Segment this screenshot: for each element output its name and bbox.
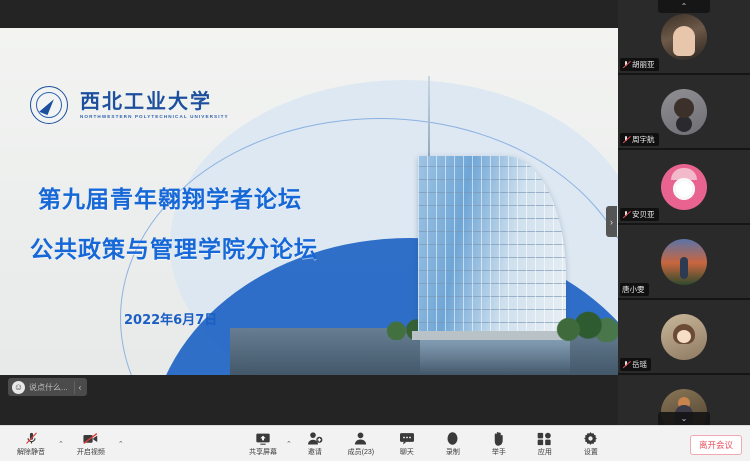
participant-name-tag: 胡丽亚 bbox=[620, 58, 659, 71]
participant-tile[interactable]: 周宇航 bbox=[618, 75, 750, 150]
building-spire bbox=[428, 76, 430, 162]
stage-letterbox-bottom bbox=[0, 375, 618, 425]
trees-right bbox=[556, 300, 618, 342]
university-name-en: NORTHWESTERN POLYTECHNICAL UNIVERSITY bbox=[80, 114, 229, 119]
microphone-muted-icon bbox=[622, 61, 630, 69]
mute-options-caret[interactable]: ⌃ bbox=[58, 440, 64, 448]
panel-collapse-handle[interactable]: › bbox=[606, 206, 617, 237]
participant-tile[interactable]: 唐小雯 bbox=[618, 225, 750, 300]
avatar bbox=[661, 89, 707, 135]
leave-meeting-button[interactable]: 离开会议 bbox=[690, 435, 742, 455]
toolbar-button-apps[interactable]: 应用 bbox=[522, 426, 568, 461]
slide-title-line2: 公共政策与管理学院分论坛 bbox=[30, 230, 318, 264]
building-reflection bbox=[420, 340, 570, 374]
slide-date: 2022年6月7日 bbox=[124, 309, 217, 328]
university-logo: 西北工业大学 NORTHWESTERN POLYTECHNICAL UNIVER… bbox=[30, 86, 229, 124]
toolbar-button-invite[interactable]: 邀请 bbox=[292, 426, 338, 461]
floating-chat-input[interactable]: ☺ 说点什么... ‹ bbox=[8, 378, 87, 396]
glass-building-photo bbox=[418, 156, 566, 336]
toolbar-button-raise-hand[interactable]: 举手 bbox=[476, 426, 522, 461]
participants-icon bbox=[353, 431, 368, 446]
apps-icon bbox=[537, 431, 552, 446]
participant-name-label: 周宇航 bbox=[632, 134, 655, 145]
chat-input-placeholder[interactable]: 说点什么... bbox=[29, 382, 74, 393]
settings-icon bbox=[583, 431, 598, 446]
toolbar-button-label: 成员(23) bbox=[348, 447, 374, 457]
camera-muted-icon bbox=[82, 431, 99, 446]
participant-name-tag: 岳瑶 bbox=[620, 358, 651, 371]
meeting-window: 西北工业大学 NORTHWESTERN POLYTECHNICAL UNIVER… bbox=[0, 0, 750, 461]
toolbar-button-label: 邀请 bbox=[308, 447, 322, 457]
avatar bbox=[661, 239, 707, 285]
toolbar-button-label: 设置 bbox=[584, 447, 598, 457]
participant-tile[interactable]: 岳瑶 bbox=[618, 300, 750, 375]
toolbar-button-label: 聊天 bbox=[400, 447, 414, 457]
raise-hand-icon bbox=[492, 431, 505, 446]
participant-name-tag: 安贝亚 bbox=[620, 208, 659, 221]
toolbar-button-participants[interactable]: 成员(23) bbox=[338, 426, 384, 461]
smiley-icon[interactable]: ☺ bbox=[12, 381, 25, 394]
participant-tile[interactable]: 安贝亚 bbox=[618, 150, 750, 225]
toolbar-button-label: 举手 bbox=[492, 447, 506, 457]
shared-screen-stage[interactable]: 西北工业大学 NORTHWESTERN POLYTECHNICAL UNIVER… bbox=[0, 0, 618, 425]
avatar bbox=[661, 14, 707, 60]
video-options-caret[interactable]: ⌃ bbox=[118, 440, 124, 448]
mute-button-label: 解除静音 bbox=[17, 447, 45, 457]
participant-name-label: 岳瑶 bbox=[632, 359, 647, 370]
microphone-muted-icon bbox=[622, 361, 630, 369]
university-name-cn: 西北工业大学 bbox=[80, 91, 229, 112]
meeting-toolbar: 解除静音 ⌃ 开启视频 ⌃ 共享屏幕⌃邀请成员(23)聊天录制举手应用设置 离开… bbox=[0, 425, 750, 461]
video-button-label: 开启视频 bbox=[77, 447, 105, 457]
toolbar-center-group: 共享屏幕⌃邀请成员(23)聊天录制举手应用设置 bbox=[240, 426, 614, 461]
participant-name-label: 唐小雯 bbox=[622, 284, 645, 295]
toolbar-button-share-screen[interactable]: 共享屏幕 bbox=[240, 426, 286, 461]
participant-name-label: 胡丽亚 bbox=[632, 59, 655, 70]
participant-name-label: 安贝亚 bbox=[632, 209, 655, 220]
participant-name-tag: 周宇航 bbox=[620, 133, 659, 146]
toolbar-button-label: 共享屏幕 bbox=[249, 447, 277, 457]
participant-tiles: 胡丽亚周宇航安贝亚唐小雯岳瑶王晓峰 bbox=[618, 0, 750, 425]
toolbar-button-chat[interactable]: 聊天 bbox=[384, 426, 430, 461]
university-logo-text: 西北工业大学 NORTHWESTERN POLYTECHNICAL UNIVER… bbox=[80, 91, 229, 119]
avatar bbox=[661, 314, 707, 360]
chat-collapse-icon[interactable]: ‹ bbox=[74, 381, 86, 394]
chat-icon bbox=[399, 431, 415, 446]
toolbar-button-label: 应用 bbox=[538, 447, 552, 457]
building-base bbox=[412, 331, 572, 340]
invite-icon bbox=[307, 431, 323, 446]
microphone-muted-icon bbox=[622, 211, 630, 219]
participant-rail[interactable]: ⌃ 胡丽亚周宇航安贝亚唐小雯岳瑶王晓峰 ⌄ bbox=[618, 0, 750, 425]
toolbar-button-label: 录制 bbox=[446, 447, 460, 457]
university-seal-icon bbox=[30, 86, 68, 124]
toolbar-button-record[interactable]: 录制 bbox=[430, 426, 476, 461]
presentation-slide: 西北工业大学 NORTHWESTERN POLYTECHNICAL UNIVER… bbox=[0, 28, 618, 375]
participant-name-tag: 唐小雯 bbox=[620, 283, 649, 296]
mute-button[interactable]: 解除静音 bbox=[8, 426, 54, 461]
avatar bbox=[661, 164, 707, 210]
stage-letterbox-top bbox=[0, 0, 618, 28]
toolbar-button-settings[interactable]: 设置 bbox=[568, 426, 614, 461]
rail-scroll-up-icon[interactable]: ⌃ bbox=[658, 0, 710, 13]
video-button[interactable]: 开启视频 bbox=[68, 426, 114, 461]
share-screen-icon bbox=[255, 431, 271, 446]
slide-title-line1: 第九届青年翱翔学者论坛 bbox=[38, 180, 302, 214]
toolbar-left-group: 解除静音 ⌃ 开启视频 ⌃ bbox=[8, 426, 124, 461]
rail-scroll-down-icon[interactable]: ⌄ bbox=[658, 412, 710, 425]
record-icon bbox=[445, 431, 460, 446]
microphone-muted-icon bbox=[622, 136, 630, 144]
microphone-muted-icon bbox=[24, 431, 39, 446]
